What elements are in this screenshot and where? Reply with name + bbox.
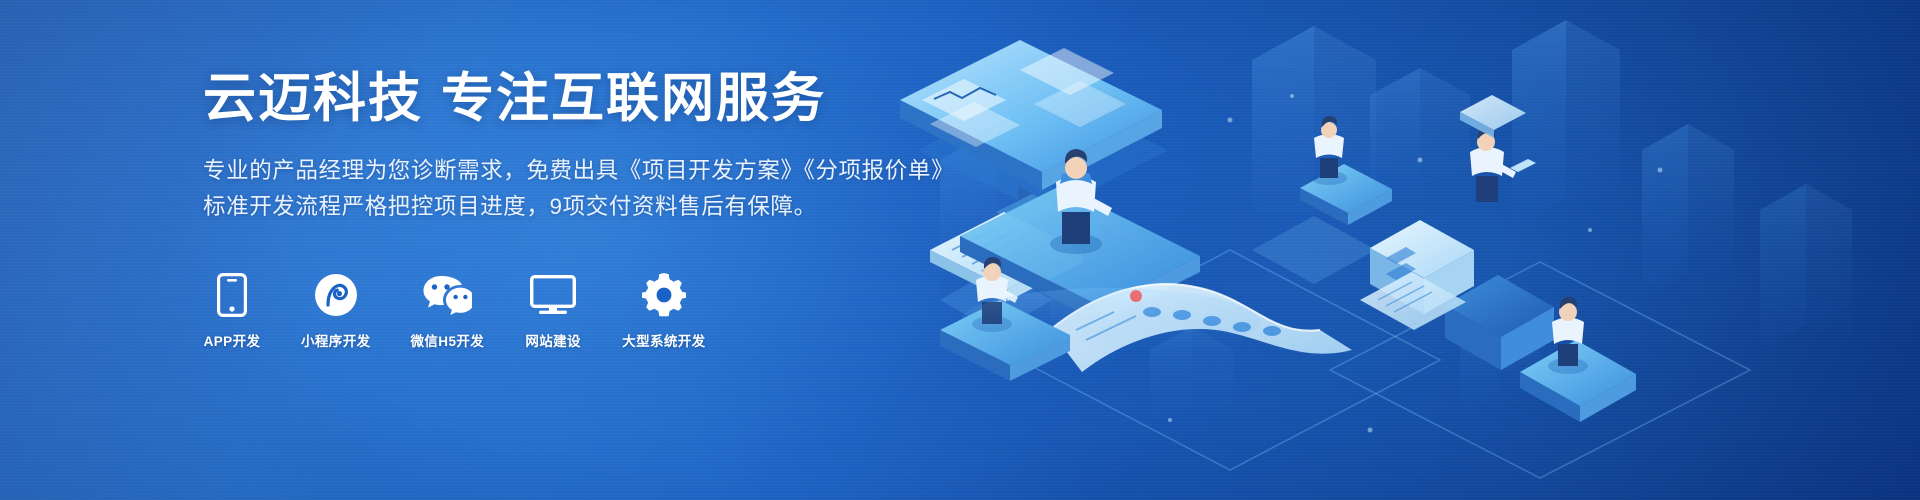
headline-brand: 云迈科技	[203, 68, 423, 129]
wechat-icon	[422, 272, 472, 318]
subtitle-line-1: 专业的产品经理为您诊断需求，免费出具《项目开发方案》《分项报价单》	[203, 153, 1103, 189]
service-label: 网站建设	[525, 330, 581, 350]
subtitle-line-2: 标准开发流程严格把控项目进度，9项交付资料售后有保障。	[203, 189, 1103, 225]
page-title: 云迈科技专注互联网服务	[203, 68, 1103, 131]
monitor-icon	[530, 272, 576, 318]
hero-copy: 云迈科技专注互联网服务 专业的产品经理为您诊断需求，免费出具《项目开发方案》《分…	[203, 68, 1103, 225]
gear-icon	[642, 272, 686, 318]
service-label: 大型系统开发	[622, 330, 705, 350]
service-label: 小程序开发	[301, 330, 371, 350]
service-list: APP开发 小程序开发	[203, 272, 706, 350]
service-item-app[interactable]: APP开发	[203, 272, 261, 350]
service-label: 微信H5开发	[411, 330, 485, 350]
service-item-wechat-h5[interactable]: 微信H5开发	[411, 272, 485, 350]
service-item-large-system[interactable]: 大型系统开发	[622, 272, 705, 350]
service-item-website[interactable]: 网站建设	[524, 272, 582, 350]
mini-program-icon	[314, 272, 358, 318]
service-label: APP开发	[204, 330, 261, 350]
hero-banner: 云迈科技专注互联网服务 专业的产品经理为您诊断需求，免费出具《项目开发方案》《分…	[0, 0, 1920, 500]
headline-tagline: 专注互联网服务	[441, 68, 826, 129]
mobile-phone-icon	[217, 272, 247, 318]
service-item-mini-program[interactable]: 小程序开发	[301, 272, 371, 350]
